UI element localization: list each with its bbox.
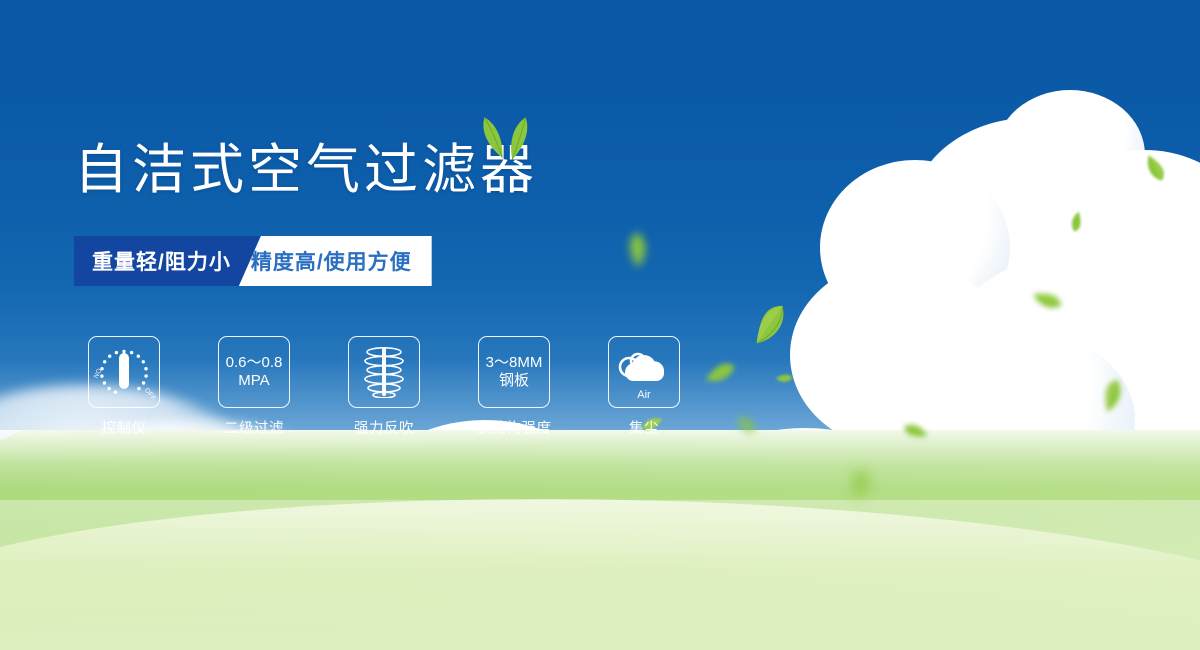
feature-icon-box — [348, 336, 420, 408]
floating-leaf-9 — [1066, 210, 1090, 234]
gauge-icon: NO OFF — [94, 344, 154, 400]
feature-icon-box: 3～8MM 钢板 — [478, 336, 550, 408]
floating-leaf-3 — [1090, 375, 1130, 415]
feature-icon-box: Air — [608, 336, 680, 408]
feature-box-line2: 钢板 — [486, 372, 543, 390]
feature-item-dust-collection[interactable]: Air 集尘 — [594, 336, 694, 438]
floating-leaf-8 — [1140, 150, 1174, 184]
feature-item-pulse-blowback[interactable]: 强力反吹 — [334, 336, 434, 438]
product-banner: 自洁式空气过滤器 重量轻/阻力小 精度高/使用方便 — [0, 0, 1200, 650]
feature-caption: 二级过滤 — [204, 417, 304, 438]
subtitle-bar: 重量轻/阻力小 精度高/使用方便 — [74, 236, 432, 286]
feature-item-steel-strength[interactable]: 3～8MM 钢板 钢结构强度 — [464, 336, 564, 438]
feature-caption: 控制仪 — [74, 417, 174, 438]
grass-light-sheen — [0, 500, 1200, 650]
feature-caption: 强力反吹 — [334, 417, 434, 438]
feature-item-controller[interactable]: NO OFF 控制仪 — [74, 336, 174, 438]
feature-caption: 集尘 — [594, 417, 694, 438]
gauge-needle-icon — [119, 353, 129, 389]
feature-item-two-stage-filter[interactable]: 0.6～0.8 MPA 二级过滤 — [204, 336, 304, 438]
feature-caption: 钢结构强度 — [464, 417, 564, 438]
feature-box-line1: 3～8MM — [486, 354, 543, 372]
subtitle-right-segment: 精度高/使用方便 — [239, 236, 432, 286]
feature-box-line1: 0.6～0.8 — [226, 354, 283, 372]
floating-leaf-11 — [840, 466, 876, 502]
grass-field — [0, 430, 1200, 650]
floating-leaf-1 — [740, 296, 794, 350]
grass-horizon-fog — [0, 430, 1200, 490]
floating-leaf-5 — [700, 352, 738, 390]
title-sprout-leaves-icon — [470, 108, 540, 168]
feature-box-text: 0.6～0.8 MPA — [226, 354, 283, 391]
feature-list: NO OFF 控制仪 0.6～0.8 MPA 二级过滤 — [74, 336, 694, 438]
floating-leaf-4 — [614, 222, 656, 278]
cloud-air-label: Air — [616, 389, 672, 401]
subtitle-left-segment: 重量轻/阻力小 — [74, 236, 261, 286]
airflow-rings-icon — [361, 346, 407, 398]
floating-leaf-10 — [900, 418, 930, 448]
floating-leaf-6 — [774, 367, 794, 387]
floating-leaf-7 — [734, 410, 760, 436]
feature-box-line2: MPA — [226, 372, 283, 390]
floating-leaf-2 — [1030, 280, 1066, 316]
feature-icon-box: NO OFF — [88, 336, 160, 408]
feature-box-text: 3～8MM 钢板 — [486, 354, 543, 391]
airflow-stem-icon — [382, 348, 386, 396]
page-title: 自洁式空气过滤器 — [74, 143, 538, 197]
feature-icon-box: 0.6～0.8 MPA — [218, 336, 290, 408]
cloud-air-icon: Air — [616, 347, 672, 397]
